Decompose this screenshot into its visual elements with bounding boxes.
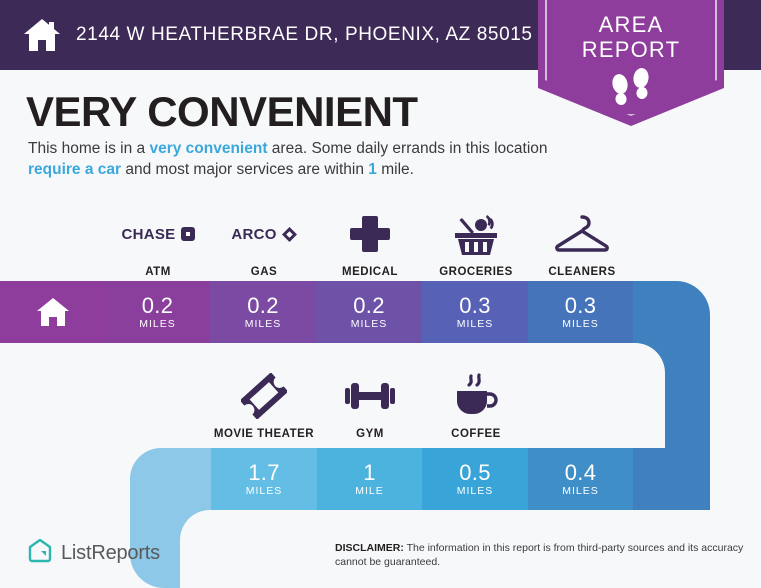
distance-unit-groceries: MILES [457, 318, 494, 330]
home-icon [22, 17, 62, 53]
distance-cell-gym: 1 MILE [317, 448, 422, 510]
distance-cell-coffee: 0.5 MILES [422, 448, 528, 510]
distance-value-atm: 0.2 [142, 294, 173, 317]
medical-cross-icon [350, 209, 390, 259]
distance-cell-atm: 0.2 MILES [105, 281, 210, 343]
chase-logo-icon: CHASE [121, 209, 194, 259]
property-address: 2144 W HEATHERBRAE DR, PHOENIX, AZ 85015 [76, 24, 533, 46]
distance-unit-cleaners: MILES [562, 318, 599, 330]
distance-value-pharmacy: 0.4 [565, 461, 596, 484]
distance-unit-gym: MILE [355, 485, 384, 497]
page-title: VERY CONVENIENT [26, 88, 418, 136]
distance-cell-pharmacy: 0.4 MILES [528, 448, 633, 510]
distance-unit-coffee: MILES [457, 485, 494, 497]
icon-cell-groceries: GROCERIES [423, 198, 529, 278]
footprints-icon [538, 68, 724, 108]
distance-value-coffee: 0.5 [459, 461, 490, 484]
arco-wordmark: ARCO [231, 226, 276, 243]
subtitle-highlight-1: very convenient [149, 140, 267, 157]
ribbon-row-1: 0.2 MILES 0.2 MILES 0.2 MILES 0.3 MILES … [0, 281, 700, 343]
icon-label-medical: MEDICAL [342, 266, 398, 278]
subtitle-part-1: This home is in a [28, 140, 149, 157]
distance-cell-gas: 0.2 MILES [210, 281, 316, 343]
distance-value-cleaners: 0.3 [565, 294, 596, 317]
ribbon-row1-tail [633, 281, 700, 343]
grocery-basket-icon [453, 209, 499, 259]
home-cell [0, 281, 105, 343]
distance-unit-movie-theater: MILES [246, 485, 283, 497]
row1-icon-strip: CHASE ATM ARCO GAS MEDICAL [105, 198, 739, 278]
ribbon-notch-right [505, 343, 665, 448]
distance-unit-gas: MILES [245, 318, 282, 330]
page-subtitle: This home is in a very convenient area. … [28, 138, 548, 180]
ribbon-row-2: 1.7 MILES 1 MILE 0.5 MILES 0.4 MILES [130, 448, 710, 510]
distance-cell-movie-theater: 1.7 MILES [211, 448, 317, 510]
subtitle-highlight-2: require a car [28, 161, 121, 178]
subtitle-highlight-3: 1 [368, 161, 377, 178]
subtitle-part-4: mile. [377, 161, 414, 178]
icon-cell-cleaners: CLEANERS [529, 198, 635, 278]
distance-cell-medical: 0.2 MILES [316, 281, 422, 343]
area-report-badge: AREA REPORT [538, 0, 724, 126]
subtitle-part-2: area. Some daily errands in this locatio… [268, 140, 548, 157]
badge-line-2: REPORT [538, 37, 724, 62]
listreports-brand: ListReports [28, 538, 160, 569]
arco-logo-icon: ARCO [231, 209, 296, 259]
subtitle-part-3: and most major services are within [121, 161, 368, 178]
distance-value-medical: 0.2 [353, 294, 384, 317]
clothes-hanger-icon [554, 209, 610, 259]
distance-value-groceries: 0.3 [459, 294, 490, 317]
disclaimer: DISCLAIMER: The information in this repo… [335, 541, 750, 569]
distance-cell-groceries: 0.3 MILES [422, 281, 528, 343]
ribbon-row2-head [130, 448, 211, 510]
icon-label-cleaners: CLEANERS [548, 266, 615, 278]
distance-value-gas: 0.2 [247, 294, 278, 317]
icon-cell-atm: CHASE ATM [105, 198, 211, 278]
icon-label-atm: ATM [145, 266, 171, 278]
distance-unit-atm: MILES [139, 318, 176, 330]
distance-cell-cleaners: 0.3 MILES [528, 281, 633, 343]
distance-unit-medical: MILES [351, 318, 388, 330]
badge-line-1: AREA [538, 12, 724, 37]
chase-wordmark: CHASE [121, 226, 175, 243]
icon-cell-gas: ARCO GAS [211, 198, 317, 278]
icon-cell-medical: MEDICAL [317, 198, 423, 278]
brand-name: ListReports [61, 542, 160, 565]
ribbon-row2-tail [633, 448, 710, 510]
distance-value-movie-theater: 1.7 [248, 461, 279, 484]
icon-label-gas: GAS [251, 266, 277, 278]
area-report-page: 2144 W HEATHERBRAE DR, PHOENIX, AZ 85015… [0, 0, 761, 588]
disclaimer-label: DISCLAIMER: [335, 542, 404, 554]
listreports-logo-icon [28, 538, 52, 569]
icon-label-groceries: GROCERIES [439, 266, 513, 278]
distance-unit-pharmacy: MILES [562, 485, 599, 497]
distance-value-gym: 1 [363, 461, 376, 484]
